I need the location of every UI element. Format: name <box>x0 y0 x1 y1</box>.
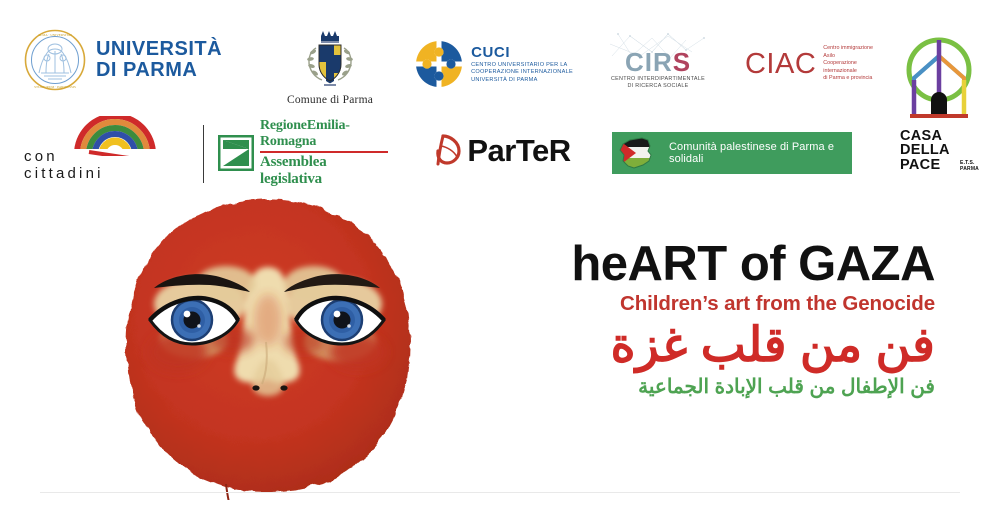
unipr-wordmark: UNIVERSITÀ DI PARMA <box>96 39 222 81</box>
regione-line1: RegioneEmilia-Romagna <box>260 118 388 150</box>
regione-wordmark: RegioneEmilia-Romagna Assemblea legislat… <box>260 118 388 188</box>
regione-line2: Assemblea legislativa <box>260 154 388 188</box>
parma-coat-of-arms-icon <box>294 28 366 90</box>
ciac-wordmark: CIAC <box>745 50 816 79</box>
cirs-sub-line1: CENTRO INTERDIPARTIMENTALE <box>611 76 705 83</box>
regione-rule <box>260 151 388 153</box>
logo-ciac: CIAC Centro immigrazione Asilo Cooperazi… <box>734 40 884 88</box>
concittadini-word-left: con <box>24 148 58 165</box>
title-block: heART of GAZA Children’s art from the Ge… <box>535 238 935 400</box>
page-title: heART of GAZA <box>535 238 935 290</box>
logo-parter: ParTeR <box>428 128 578 174</box>
cuci-wordmark: CUCI CENTRO UNIVERSITARIO PER LA COOPERA… <box>471 44 573 85</box>
peace-house-icon <box>900 34 978 126</box>
ciac-sub-line5: di Parma e provincia <box>823 75 873 82</box>
ciac-sub-line4: internazionale <box>823 68 873 75</box>
subtitle-arabic: فن الإطفال من قلب الإبادة الجماعية <box>535 374 935 400</box>
ciac-sub-line1: Centro immigrazione <box>823 45 873 52</box>
parter-leaf-icon <box>435 132 465 170</box>
concittadini-wordmark: con cittadini <box>24 148 184 182</box>
logo-comunita-palestinese: Comunità palestinese di Parma e solidali <box>612 132 852 174</box>
concittadini-word-right: cittadini <box>24 165 104 182</box>
cirs-word-main: CIR <box>625 47 673 77</box>
poster-canvas: ALMA · UNIVERSITAS STUDIORUM · PARMENSIS… <box>0 0 1000 500</box>
logo-casa-della-pace: CASA DELLA PACE E.T.S. PARMA <box>896 28 982 178</box>
subtitle-english: Children’s art from the Genocide <box>535 292 935 316</box>
logo-cirs: CIRS CENTRO INTERDIPARTIMENTALE DI RICER… <box>604 32 712 90</box>
bottom-rule <box>40 492 960 493</box>
unipr-line2: DI PARMA <box>96 60 222 81</box>
comune-caption: Comune di Parma <box>287 94 373 106</box>
casa-ets-line2: PARMA <box>960 167 979 172</box>
logo-cuci: CUCI CENTRO UNIVERSITARIO PER LA COOPERA… <box>404 34 584 94</box>
logo-concittadini: con cittadini <box>24 116 184 182</box>
title-arabic: فن من قلب غزة <box>535 318 935 374</box>
logo-comune-di-parma: Comune di Parma <box>270 24 390 110</box>
cuci-sub-line1: CENTRO UNIVERSITARIO PER LA <box>471 62 573 70</box>
parter-wordmark: ParTeR <box>467 133 570 169</box>
palestine-map-flag-icon <box>616 136 662 170</box>
university-seal-icon: ALMA · UNIVERSITAS STUDIORUM · PARMENSIS <box>24 29 86 91</box>
logo-regione-emilia-romagna: RegioneEmilia-Romagna Assemblea legislat… <box>218 130 388 176</box>
ciac-sub-line2: Asilo <box>823 53 873 60</box>
cuci-subtitle: CENTRO UNIVERSITARIO PER LA COOPERAZIONE… <box>471 62 573 85</box>
casa-wordmark: CASA DELLA PACE E.T.S. PARMA <box>900 129 978 173</box>
ciac-subtitle: Centro immigrazione Asilo Cooperazione i… <box>823 45 873 82</box>
puzzle-circle-icon <box>415 40 463 88</box>
logo-divider <box>203 125 204 183</box>
casa-line2: DELLA <box>900 143 978 158</box>
artwork-child-painting <box>108 192 428 500</box>
casa-ets-label: E.T.S. PARMA <box>960 161 979 172</box>
cuci-sub-line2: COOPERAZIONE INTERNAZIONALE <box>471 69 573 77</box>
cirs-wordmark: CIRS <box>625 49 691 75</box>
svg-text:ALMA · UNIVERSITAS: ALMA · UNIVERSITAS <box>38 33 73 37</box>
palestine-banner-text: Comunità palestinese di Parma e solidali <box>669 141 852 165</box>
cirs-word-accent: S <box>673 47 691 77</box>
ciac-sub-line3: Cooperazione <box>823 60 873 67</box>
casa-line1: CASA <box>900 129 978 144</box>
regione-mark-icon <box>218 135 254 171</box>
cirs-subtitle: CENTRO INTERDIPARTIMENTALE DI RICERCA SO… <box>611 76 705 90</box>
cirs-sub-line2: DI RICERCA SOCIALE <box>611 83 705 90</box>
cuci-title: CUCI <box>471 44 573 61</box>
cuci-sub-line3: UNIVERSITÀ DI PARMA <box>471 77 573 85</box>
unipr-line1: UNIVERSITÀ <box>96 39 222 60</box>
logo-universita-di-parma: ALMA · UNIVERSITAS STUDIORUM · PARMENSIS… <box>28 24 218 96</box>
svg-text:STUDIORUM · PARMENSIS: STUDIORUM · PARMENSIS <box>34 85 76 89</box>
